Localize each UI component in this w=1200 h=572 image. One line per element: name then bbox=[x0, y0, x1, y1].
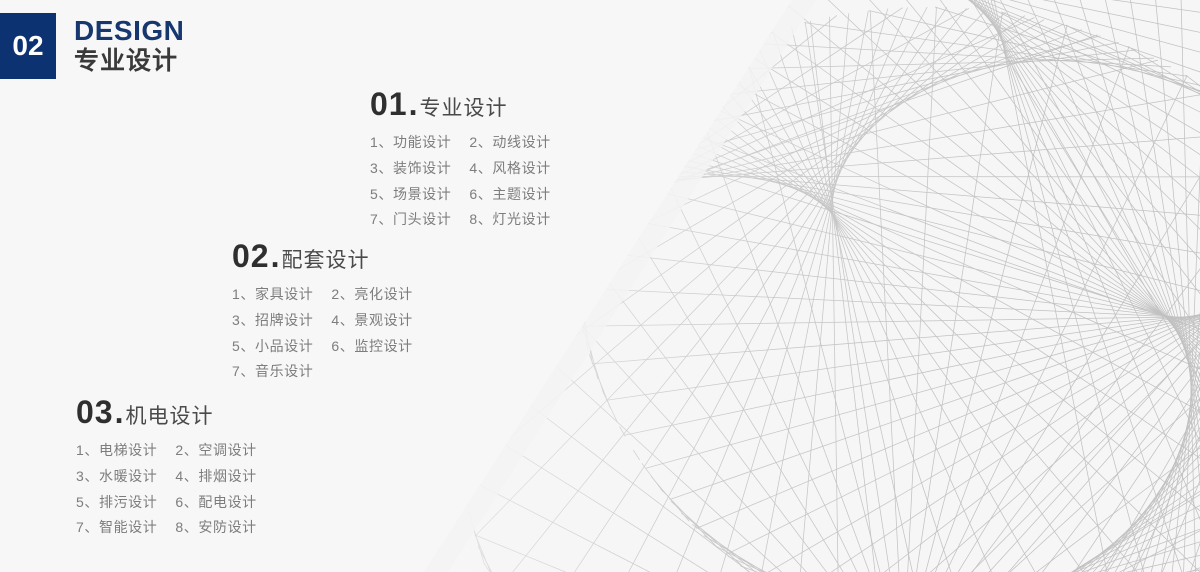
block-03-dot: . bbox=[115, 396, 124, 428]
block-01-heading: 01 . 专业设计 bbox=[370, 88, 551, 120]
list-item: 7、门头设计 bbox=[370, 211, 451, 228]
list-item: 1、电梯设计 bbox=[76, 442, 157, 459]
slide-canvas: 02 DESIGN 专业设计 01 . 专业设计 1、功能设计 2、动线设计 3… bbox=[0, 0, 1200, 572]
block-01-title: 专业设计 bbox=[419, 98, 507, 119]
list-item: 3、招牌设计 bbox=[232, 312, 313, 329]
list-item: 5、场景设计 bbox=[370, 186, 451, 203]
block-02-heading: 02 . 配套设计 bbox=[232, 240, 413, 272]
list-item: 7、音乐设计 bbox=[232, 363, 313, 380]
block-01-number: 01 bbox=[370, 88, 408, 120]
list-item: 8、灯光设计 bbox=[469, 211, 550, 228]
list-item: 2、空调设计 bbox=[175, 442, 256, 459]
block-01-list: 1、功能设计 2、动线设计 3、装饰设计 4、风格设计 5、场景设计 6、主题设… bbox=[370, 134, 551, 228]
block-02-list: 1、家具设计 2、亮化设计 3、招牌设计 4、景观设计 5、小品设计 6、监控设… bbox=[232, 286, 413, 380]
block-02-title: 配套设计 bbox=[281, 250, 369, 271]
list-item: 5、小品设计 bbox=[232, 338, 313, 355]
design-block-03: 03 . 机电设计 1、电梯设计 2、空调设计 3、水暖设计 4、排烟设计 5、… bbox=[76, 396, 257, 536]
list-item: 1、功能设计 bbox=[370, 134, 451, 151]
list-item: 6、监控设计 bbox=[331, 338, 412, 355]
block-02-dot: . bbox=[271, 240, 280, 272]
design-block-01: 01 . 专业设计 1、功能设计 2、动线设计 3、装饰设计 4、风格设计 5、… bbox=[370, 88, 551, 228]
list-item: 3、装饰设计 bbox=[370, 160, 451, 177]
list-item: 2、亮化设计 bbox=[331, 286, 412, 303]
list-item: 4、风格设计 bbox=[469, 160, 550, 177]
header-title-group: DESIGN 专业设计 bbox=[56, 13, 184, 79]
header-title-cn: 专业设计 bbox=[74, 47, 184, 76]
block-03-number: 03 bbox=[76, 396, 114, 428]
list-item: 6、配电设计 bbox=[175, 494, 256, 511]
list-item: 5、排污设计 bbox=[76, 494, 157, 511]
list-item: 7、智能设计 bbox=[76, 519, 157, 536]
list-item: 1、家具设计 bbox=[232, 286, 313, 303]
block-03-title: 机电设计 bbox=[125, 406, 213, 427]
list-item: 2、动线设计 bbox=[469, 134, 550, 151]
section-number-text: 02 bbox=[12, 32, 43, 60]
block-03-heading: 03 . 机电设计 bbox=[76, 396, 257, 428]
list-item: 4、景观设计 bbox=[331, 312, 412, 329]
list-item: 6、主题设计 bbox=[469, 186, 550, 203]
list-item: 3、水暖设计 bbox=[76, 468, 157, 485]
section-number-badge: 02 bbox=[0, 13, 56, 79]
block-03-list: 1、电梯设计 2、空调设计 3、水暖设计 4、排烟设计 5、排污设计 6、配电设… bbox=[76, 442, 257, 536]
block-02-number: 02 bbox=[232, 240, 270, 272]
design-block-02: 02 . 配套设计 1、家具设计 2、亮化设计 3、招牌设计 4、景观设计 5、… bbox=[232, 240, 413, 380]
list-item: 8、安防设计 bbox=[175, 519, 256, 536]
header-title-en: DESIGN bbox=[74, 16, 184, 45]
block-01-dot: . bbox=[409, 88, 418, 120]
list-item: 4、排烟设计 bbox=[175, 468, 256, 485]
slide-header: 02 DESIGN 专业设计 bbox=[0, 13, 184, 79]
